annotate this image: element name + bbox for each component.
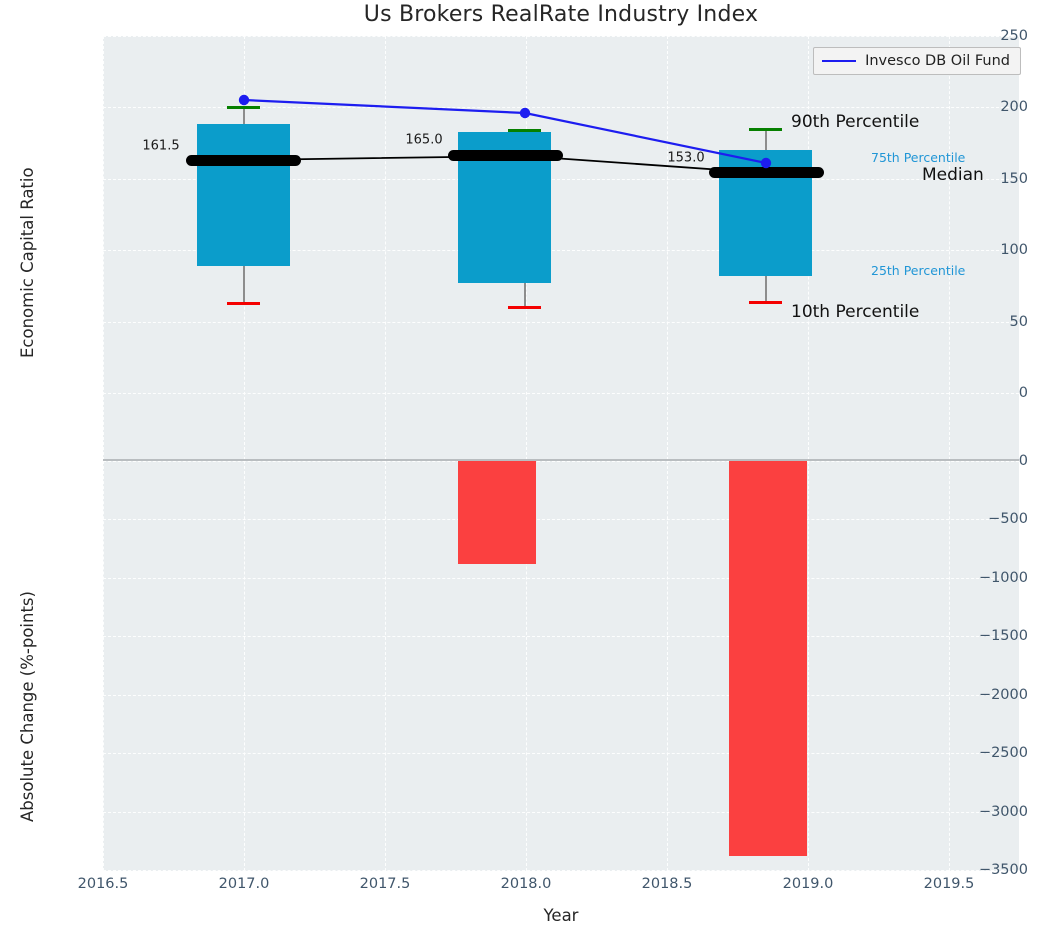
y-axis-label-bottom: Absolute Change (%-points)	[18, 591, 37, 822]
legend[interactable]: Invesco DB Oil Fund	[813, 47, 1021, 75]
ytick-bottom-n3000: −3000	[947, 804, 1039, 820]
chart-figure: Us Brokers RealRate Industry Index	[0, 0, 1039, 942]
ytick-bottom-n2000: −2000	[947, 687, 1039, 703]
ytick-bottom-0: 0	[947, 453, 1039, 469]
series-point-2018	[520, 108, 530, 118]
ytick-bottom-n2500: −2500	[947, 745, 1039, 761]
annotation-10th-percentile: 10th Percentile	[791, 302, 919, 322]
xtick-2017-0: 2017.0	[199, 876, 289, 892]
ytick-top-100: 100	[947, 242, 1039, 258]
annotation-75th-percentile: 75th Percentile	[871, 150, 965, 165]
annotation-25th-percentile: 25th Percentile	[871, 263, 965, 278]
xtick-2016-5: 2016.5	[58, 876, 148, 892]
series-invesco-db-oil-fund	[0, 0, 1039, 942]
xtick-2017-5: 2017.5	[340, 876, 430, 892]
xtick-2018-0: 2018.0	[481, 876, 571, 892]
ytick-top-50: 50	[947, 314, 1039, 330]
ytick-bottom-n1000: −1000	[947, 570, 1039, 586]
legend-line-swatch	[822, 60, 856, 62]
legend-item-label: Invesco DB Oil Fund	[865, 53, 1010, 69]
x-axis-label: Year	[103, 906, 1019, 925]
ytick-top-200: 200	[947, 99, 1039, 115]
xtick-2019-0: 2019.0	[763, 876, 853, 892]
y-axis-label-top: Economic Capital Ratio	[18, 167, 37, 358]
annotation-90th-percentile: 90th Percentile	[791, 112, 919, 132]
ytick-bottom-n500: −500	[947, 511, 1039, 527]
ytick-top-150: 150	[947, 171, 1039, 187]
xtick-2019-5: 2019.5	[904, 876, 994, 892]
series-point-2017	[239, 95, 249, 105]
ytick-top-250: 250	[947, 28, 1039, 44]
ytick-top-0: 0	[947, 385, 1039, 401]
xtick-2018-5: 2018.5	[622, 876, 712, 892]
ytick-bottom-n1500: −1500	[947, 628, 1039, 644]
series-point-2019	[761, 158, 771, 168]
